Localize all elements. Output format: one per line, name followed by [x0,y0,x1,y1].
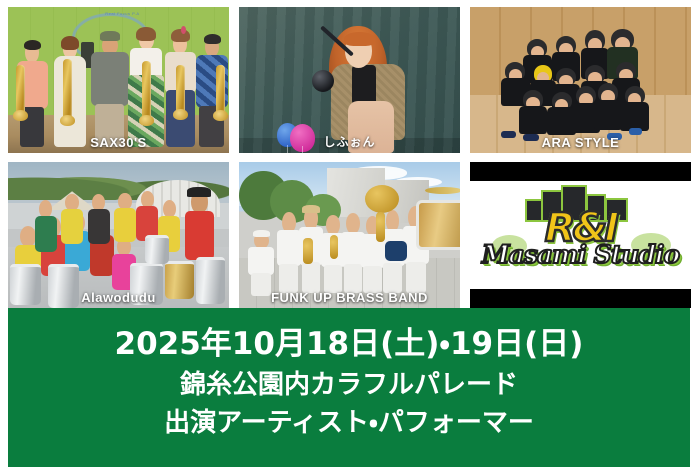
photo-scene-sax30s: Real Focus P.A [8,7,229,153]
performer-figure [15,42,50,147]
saxophone-icon [16,65,25,115]
band-member-figure [248,232,275,296]
performer-figure [163,33,198,147]
dancer-figure [552,92,572,136]
saxophone-icon [142,61,151,122]
performer-photo-grid: Real Focus P.A [0,0,700,308]
saxophone-icon [216,65,225,116]
performer-hair [204,34,221,44]
sousaphone-tube-icon [376,212,385,242]
event-subtitle: 出演アーティスト・パフォーマー [164,408,534,440]
bass-drum-icon [416,200,460,250]
photo-caption: Alawodudu [8,290,229,305]
photo-caption: SAX30'S [8,135,229,150]
photo-scene-funk-up-brass-band [239,162,460,308]
saxophone-icon [63,59,72,122]
performer-hat-icon [100,31,120,41]
performer-figure [90,33,130,147]
saxophone-icon [176,65,185,115]
dancer-figure [576,86,596,133]
bucket-hat-icon [253,230,270,238]
performer-fringe [344,32,375,46]
hat-icon [187,187,211,197]
event-dates: 2025年10月18日(土)・19日(日) [115,326,584,364]
dancer-figure [523,90,543,134]
performer-figure [136,191,158,241]
performer-figure [127,30,165,147]
performer-hair [136,27,156,41]
masami-studio-logo: R&I Masami Studio [470,181,691,289]
logo-wordmark: Masami Studio [482,240,679,269]
photo-scene-shiffon [239,7,460,153]
band-member-figure [277,212,301,294]
surdo-drum-icon [145,235,169,264]
microphone-icon [312,70,334,92]
performer-figure [196,36,229,147]
dancer-figure [598,83,618,130]
performer-figure [185,190,214,260]
photo-tile-ara-style[interactable]: ARA STYLE [470,7,691,153]
drum-case-icon [385,241,407,261]
stage-logo-text: Real Focus P.A [105,11,139,16]
performer-jacket [91,52,129,107]
performer-figure [88,194,110,244]
photo-tile-alawodudu[interactable]: Alawodudu [8,162,229,308]
photo-scene-ara-style [470,7,691,153]
photo-tile-masami-studio[interactable]: R&I Masami Studio [470,162,691,308]
photo-scene-alawodudu [8,162,229,308]
photo-tile-funk-up-brass-band[interactable]: FUNK UP BRASS BAND [239,162,460,308]
event-venue: 錦糸公園内カラフルパレード [180,370,518,402]
trumpet-icon [330,235,338,259]
letterbox-bar-bottom [470,289,691,308]
letterbox-bar-top [470,162,691,181]
photo-caption: ARA STYLE [470,135,691,150]
photo-tile-shiffon[interactable]: しふぉん [239,7,460,153]
performer-hair [61,36,79,50]
event-info-banner: 2025年10月18日(土)・19日(日) 錦糸公園内カラフルパレード 出演アー… [8,308,690,467]
photo-tile-sax30s[interactable]: Real Focus P.A [8,7,229,153]
performer-figure [52,39,87,147]
performer-hair [24,40,41,51]
dancer-figure [625,86,645,131]
photo-caption: FUNK UP BRASS BAND [239,290,460,305]
straw-hat-icon [302,205,320,214]
saxophone-icon [303,238,313,264]
photo-caption: しふぉん [239,133,460,150]
event-poster: Real Focus P.A [0,0,700,467]
performer-figure [114,193,136,243]
performer-figure [35,200,57,253]
cymbal-icon [425,187,460,194]
performer-figure [61,194,83,244]
photo-scene-masami-studio: R&I Masami Studio [470,162,691,308]
